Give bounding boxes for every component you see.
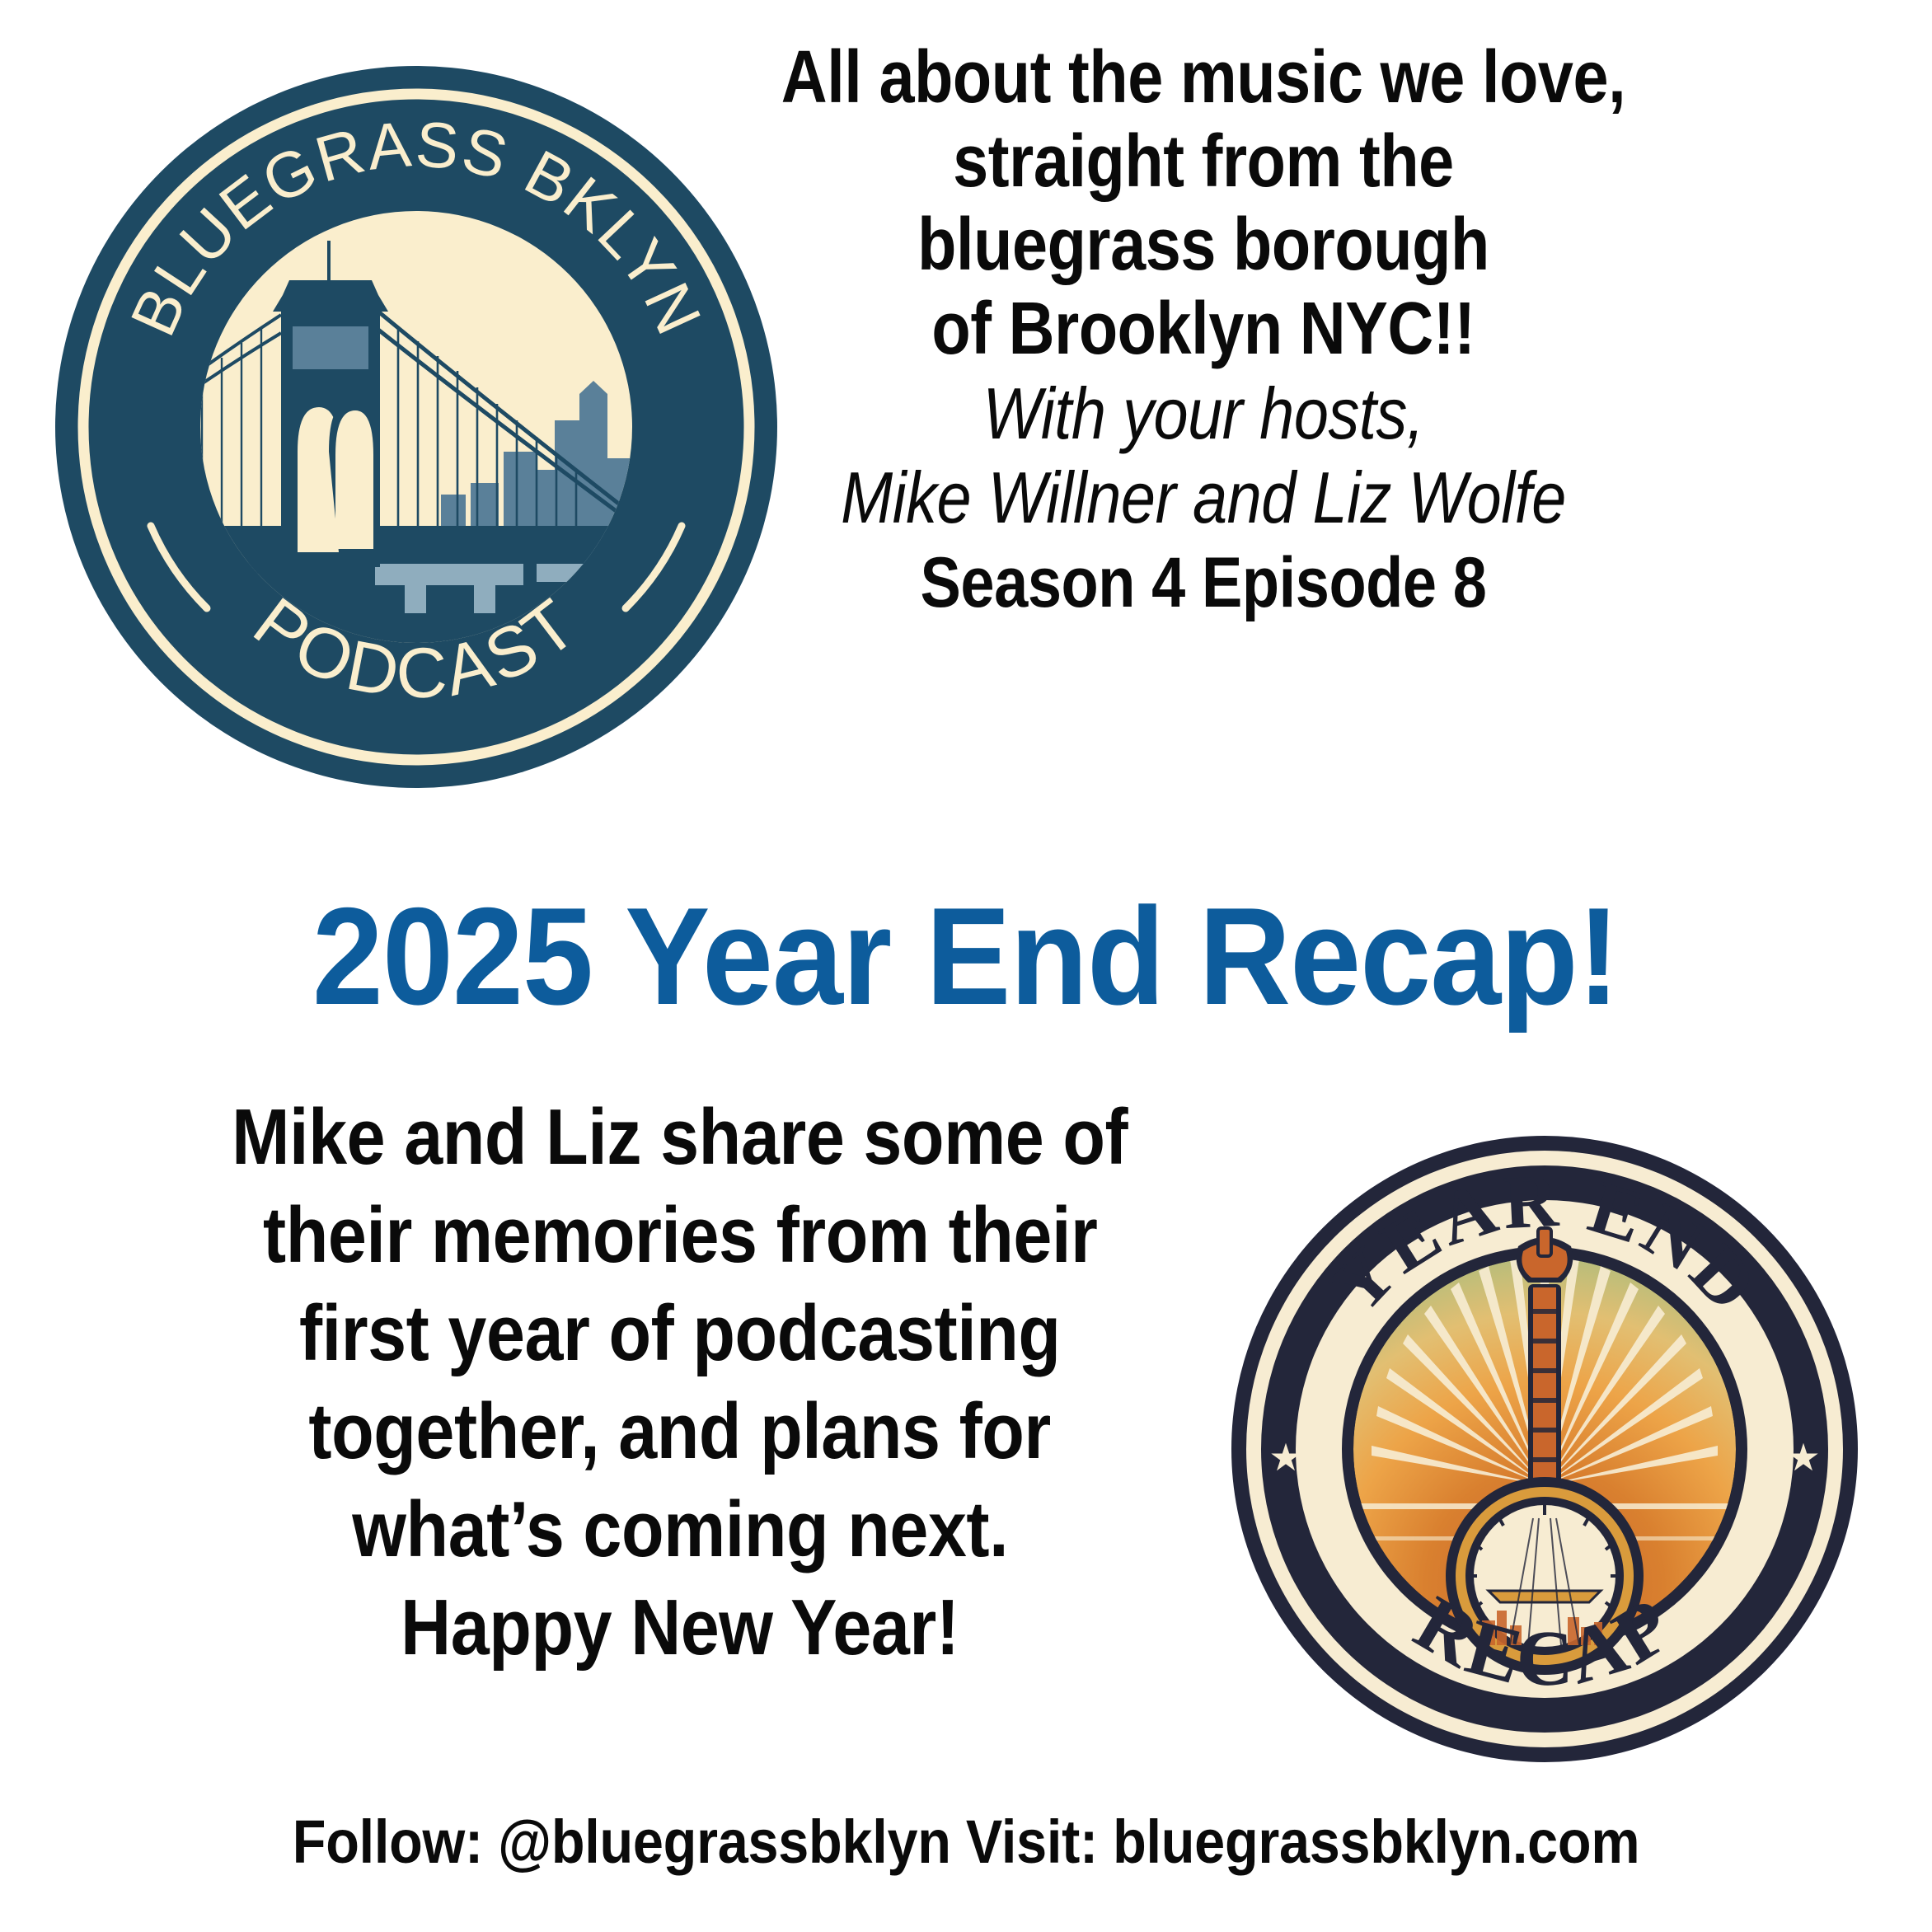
body-line-1: Mike and Liz share some of bbox=[49, 1088, 1311, 1186]
year-end-recap-badge: ★ ★ YEAR END RECAP bbox=[1226, 1131, 1863, 1767]
header-line-4: of Brooklyn NYC!! bbox=[764, 288, 1643, 372]
header-line-3: bluegrass borough bbox=[764, 204, 1643, 288]
podcast-logo: BLUEGRASS BKLYN PODCAST bbox=[45, 64, 787, 790]
star-right-icon: ★ bbox=[1786, 1436, 1820, 1479]
footer: Follow: @bluegrassbklyn Visit: bluegrass… bbox=[0, 1807, 1932, 1877]
footer-contact-line: Follow: @bluegrassbklyn Visit: bluegrass… bbox=[0, 1807, 1932, 1877]
hosts-names: Mike Willner and Liz Wolfe bbox=[764, 456, 1643, 540]
body-line-3: first year of podcasting bbox=[49, 1284, 1311, 1382]
header-text-block: All about the music we love, straight fr… bbox=[692, 36, 1714, 623]
hosts-intro: With your hosts, bbox=[764, 372, 1643, 456]
header-line-1: All about the music we love, bbox=[764, 36, 1643, 120]
page-title-text: 2025 Year End Recap! bbox=[312, 884, 1619, 1029]
episode-description: Mike and Liz share some of their memorie… bbox=[49, 1088, 1311, 1676]
page-title: 2025 Year End Recap! bbox=[0, 884, 1932, 1029]
body-line-2: their memories from their bbox=[49, 1186, 1311, 1284]
header-line-2: straight from the bbox=[764, 120, 1643, 204]
body-line-5: what’s coming next. bbox=[49, 1480, 1311, 1578]
body-line-4: together, and plans for bbox=[49, 1382, 1311, 1480]
season-episode: Season 4 Episode 8 bbox=[764, 543, 1643, 623]
body-line-6: Happy New Year! bbox=[49, 1578, 1311, 1676]
star-left-icon: ★ bbox=[1268, 1436, 1302, 1479]
